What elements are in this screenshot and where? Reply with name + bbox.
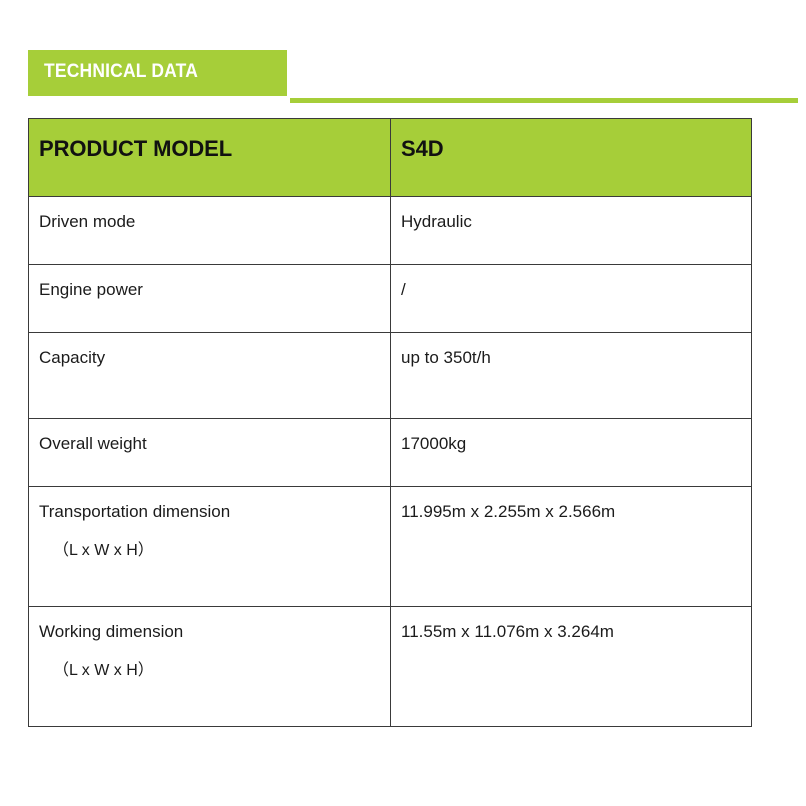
spec-value-overall-weight: 17000kg xyxy=(391,419,752,487)
technical-data-tab: TECHNICAL DATA xyxy=(28,50,287,96)
section-header: TECHNICAL DATA xyxy=(0,50,806,105)
table-row: Transportation dimension （L x W x H） 11.… xyxy=(29,487,752,607)
table-row: Engine power / xyxy=(29,265,752,333)
technical-data-page: TECHNICAL DATA PRODUCT MODEL S4D Driven … xyxy=(0,0,806,806)
technical-data-tab-label: TECHNICAL DATA xyxy=(44,61,198,83)
table-row: Working dimension （L x W x H） 11.55m x 1… xyxy=(29,607,752,727)
spec-label-overall-weight: Overall weight xyxy=(29,419,391,487)
table-row: Driven mode Hydraulic xyxy=(29,197,752,265)
technical-data-table: PRODUCT MODEL S4D Driven mode Hydraulic … xyxy=(28,118,752,727)
spec-label-text: Working dimension xyxy=(39,622,183,641)
table-row: Capacity up to 350t/h xyxy=(29,333,752,419)
header-cell-value: S4D xyxy=(391,119,752,197)
spec-value-driven-mode: Hydraulic xyxy=(391,197,752,265)
spec-label-engine-power: Engine power xyxy=(29,265,391,333)
spec-label-driven-mode: Driven mode xyxy=(29,197,391,265)
spec-label-working-dimension: Working dimension （L x W x H） xyxy=(29,607,391,727)
spec-label-transportation-dimension: Transportation dimension （L x W x H） xyxy=(29,487,391,607)
table-row: Overall weight 17000kg xyxy=(29,419,752,487)
spec-value-capacity: up to 350t/h xyxy=(391,333,752,419)
spec-value-transportation-dimension: 11.995m x 2.255m x 2.566m xyxy=(391,487,752,607)
table-header-row: PRODUCT MODEL S4D xyxy=(29,119,752,197)
spec-label-text: Transportation dimension xyxy=(39,502,230,521)
section-divider-rule xyxy=(290,98,798,103)
spec-value-working-dimension: 11.55m x 11.076m x 3.264m xyxy=(391,607,752,727)
spec-label-sub-text: （L x W x H） xyxy=(39,539,380,562)
spec-value-engine-power: / xyxy=(391,265,752,333)
spec-label-capacity: Capacity xyxy=(29,333,391,419)
header-cell-label: PRODUCT MODEL xyxy=(29,119,391,197)
spec-label-sub-text: （L x W x H） xyxy=(39,659,380,682)
